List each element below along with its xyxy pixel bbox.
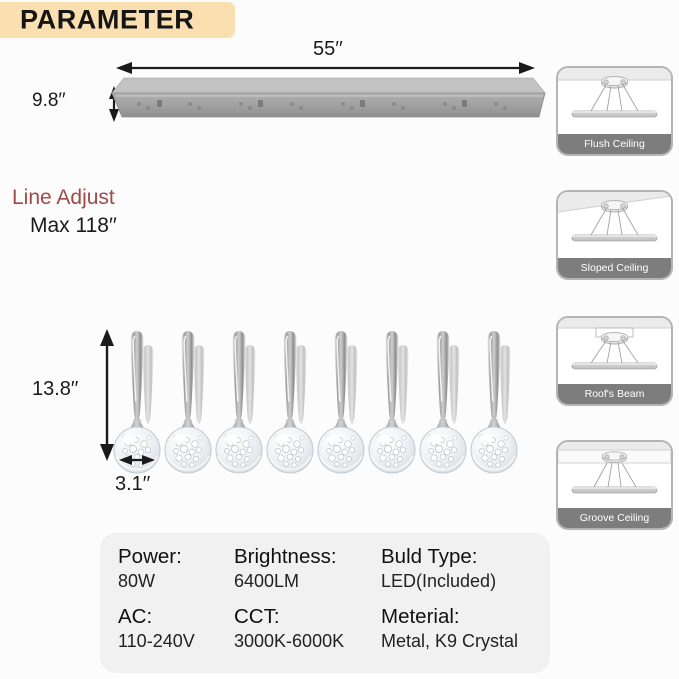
- ceiling-canopy-plate: [112, 78, 545, 117]
- spec-value: Metal, K9 Crystal: [381, 630, 518, 653]
- crystal-pendant: [420, 331, 466, 473]
- spec-value: LED(Included): [381, 570, 496, 593]
- crystal-pendant: [267, 331, 313, 473]
- spec-key: Meterial:: [381, 606, 518, 628]
- ceiling-type-label: Flush Ceiling: [558, 134, 671, 154]
- ceiling-type-sloped[interactable]: Sloped Ceiling: [556, 190, 673, 280]
- spec-value: 110-240V: [118, 630, 195, 653]
- spec-ac: AC: 110-240V: [118, 606, 195, 652]
- width-dimension-arrow: [116, 62, 535, 74]
- ceiling-type-label: Roof's Beam: [558, 384, 671, 404]
- ceiling-type-flush[interactable]: Flush Ceiling: [556, 66, 673, 156]
- line-adjust-value: Max 118′′: [30, 214, 117, 238]
- product-parameter-infographic: PARAMETER: [0, 0, 679, 679]
- pendant-height-label: 13.8′′: [32, 378, 78, 401]
- crystal-pendant: [114, 331, 160, 473]
- crystal-pendant: [369, 331, 415, 473]
- spec-key: AC:: [118, 606, 195, 628]
- crystal-pendant: [216, 331, 262, 473]
- spec-key: CCT:: [234, 606, 344, 628]
- crystal-diameter-label: 3.1′′: [115, 473, 150, 496]
- roof-beam-icon: [558, 318, 671, 384]
- specification-panel: Power: 80W Brightness: 6400LM Buld Type:…: [100, 533, 550, 673]
- crystal-pendant: [471, 331, 517, 473]
- spec-power: Power: 80W: [118, 546, 182, 592]
- spec-key: Brightness:: [234, 546, 337, 568]
- spec-value: 3000K-6000K: [234, 630, 344, 653]
- spec-bulb-type: Buld Type: LED(Included): [381, 546, 496, 592]
- spec-value: 80W: [118, 570, 182, 593]
- spec-key: Buld Type:: [381, 546, 496, 568]
- spec-value: 6400LM: [234, 570, 337, 593]
- canopy-depth-label: 9.8′′: [32, 90, 66, 112]
- crystal-pendant: [318, 331, 364, 473]
- sloped-ceiling-icon: [558, 192, 671, 258]
- width-dimension-label: 55′′: [313, 38, 343, 61]
- ceiling-type-roof-beam[interactable]: Roof's Beam: [556, 316, 673, 406]
- ceiling-type-groove[interactable]: Groove Ceiling: [556, 440, 673, 530]
- spec-brightness: Brightness: 6400LM: [234, 546, 337, 592]
- flush-ceiling-icon: [558, 68, 671, 134]
- ceiling-type-label: Sloped Ceiling: [558, 258, 671, 278]
- spec-material: Meterial: Metal, K9 Crystal: [381, 606, 518, 652]
- groove-ceiling-icon: [558, 442, 671, 508]
- spec-cct: CCT: 3000K-6000K: [234, 606, 344, 652]
- ceiling-type-label: Groove Ceiling: [558, 508, 671, 528]
- line-adjust-title: Line Adjust: [12, 186, 115, 210]
- pendant-height-arrow: [100, 329, 114, 461]
- suspension-cables: [139, 108, 505, 348]
- spec-key: Power:: [118, 546, 182, 568]
- crystal-pendant: [165, 331, 211, 473]
- pendant-row: [114, 331, 517, 473]
